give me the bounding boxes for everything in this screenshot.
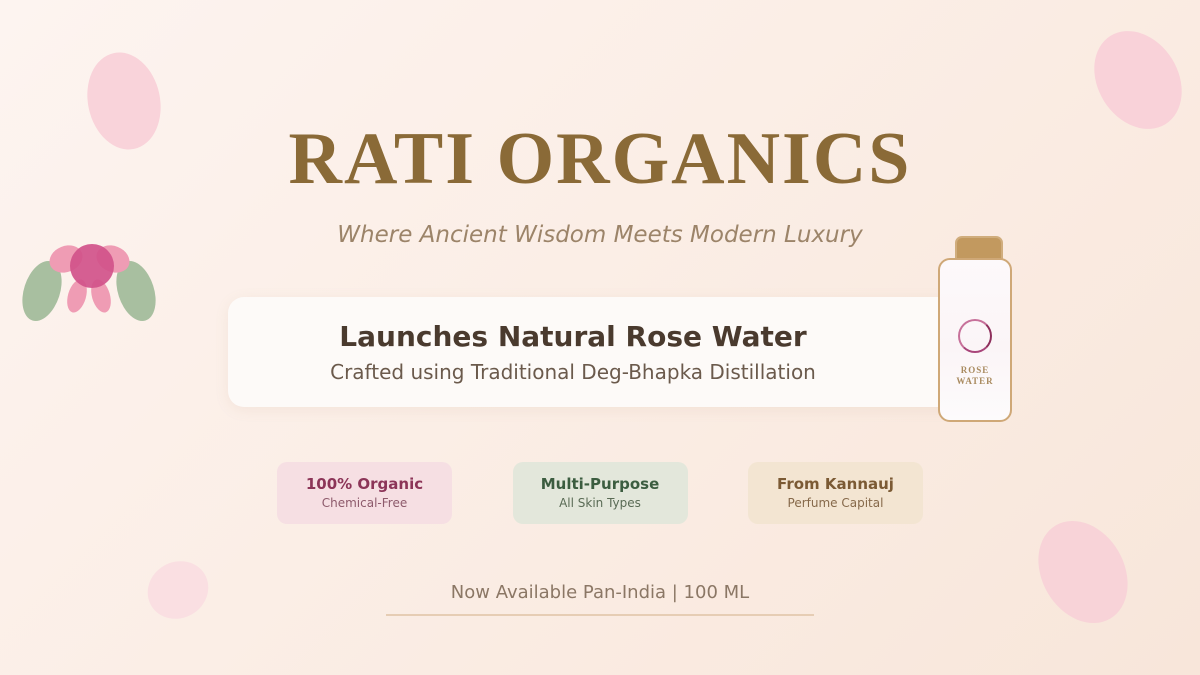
badge-kannauj: From Kannauj Perfume Capital (748, 462, 923, 524)
brand-title: RATI ORGANICS (0, 122, 1200, 196)
bottle-label-line1: ROSE (956, 365, 993, 376)
badge-kannauj-title: From Kannauj (777, 475, 894, 493)
promo-poster: RATI ORGANICS Where Ancient Wisdom Meets… (0, 0, 1200, 675)
announcement-card: Launches Natural Rose Water Crafted usin… (228, 297, 973, 407)
badge-multipurpose-title: Multi-Purpose (541, 475, 660, 493)
badge-kannauj-subtitle: Perfume Capital (788, 496, 884, 510)
badge-organic-title: 100% Organic (306, 475, 423, 493)
badge-organic-subtitle: Chemical-Free (322, 496, 407, 510)
badge-multipurpose: Multi-Purpose All Skin Types (513, 462, 688, 524)
announcement-subline: Crafted using Traditional Deg-Bhapka Dis… (330, 360, 816, 384)
decor-blob-bottom-right (1020, 505, 1145, 640)
footer-divider (386, 614, 814, 616)
bottle-body: ROSE WATER (938, 258, 1012, 422)
brand-tagline: Where Ancient Wisdom Meets Modern Luxury (0, 222, 1200, 250)
rose-center (70, 244, 114, 288)
rose-ring-icon (958, 319, 992, 353)
feature-badge-group: 100% Organic Chemical-Free Multi-Purpose… (277, 462, 923, 524)
product-bottle-image: ROSE WATER (934, 236, 1016, 422)
footer-availability-text: Now Available Pan-India | 100 ML (0, 582, 1200, 604)
badge-organic: 100% Organic Chemical-Free (277, 462, 452, 524)
bottle-label-line2: WATER (956, 376, 993, 387)
badge-multipurpose-subtitle: All Skin Types (559, 496, 641, 510)
bottle-label: ROSE WATER (956, 365, 993, 388)
announcement-headline: Launches Natural Rose Water (339, 320, 806, 354)
